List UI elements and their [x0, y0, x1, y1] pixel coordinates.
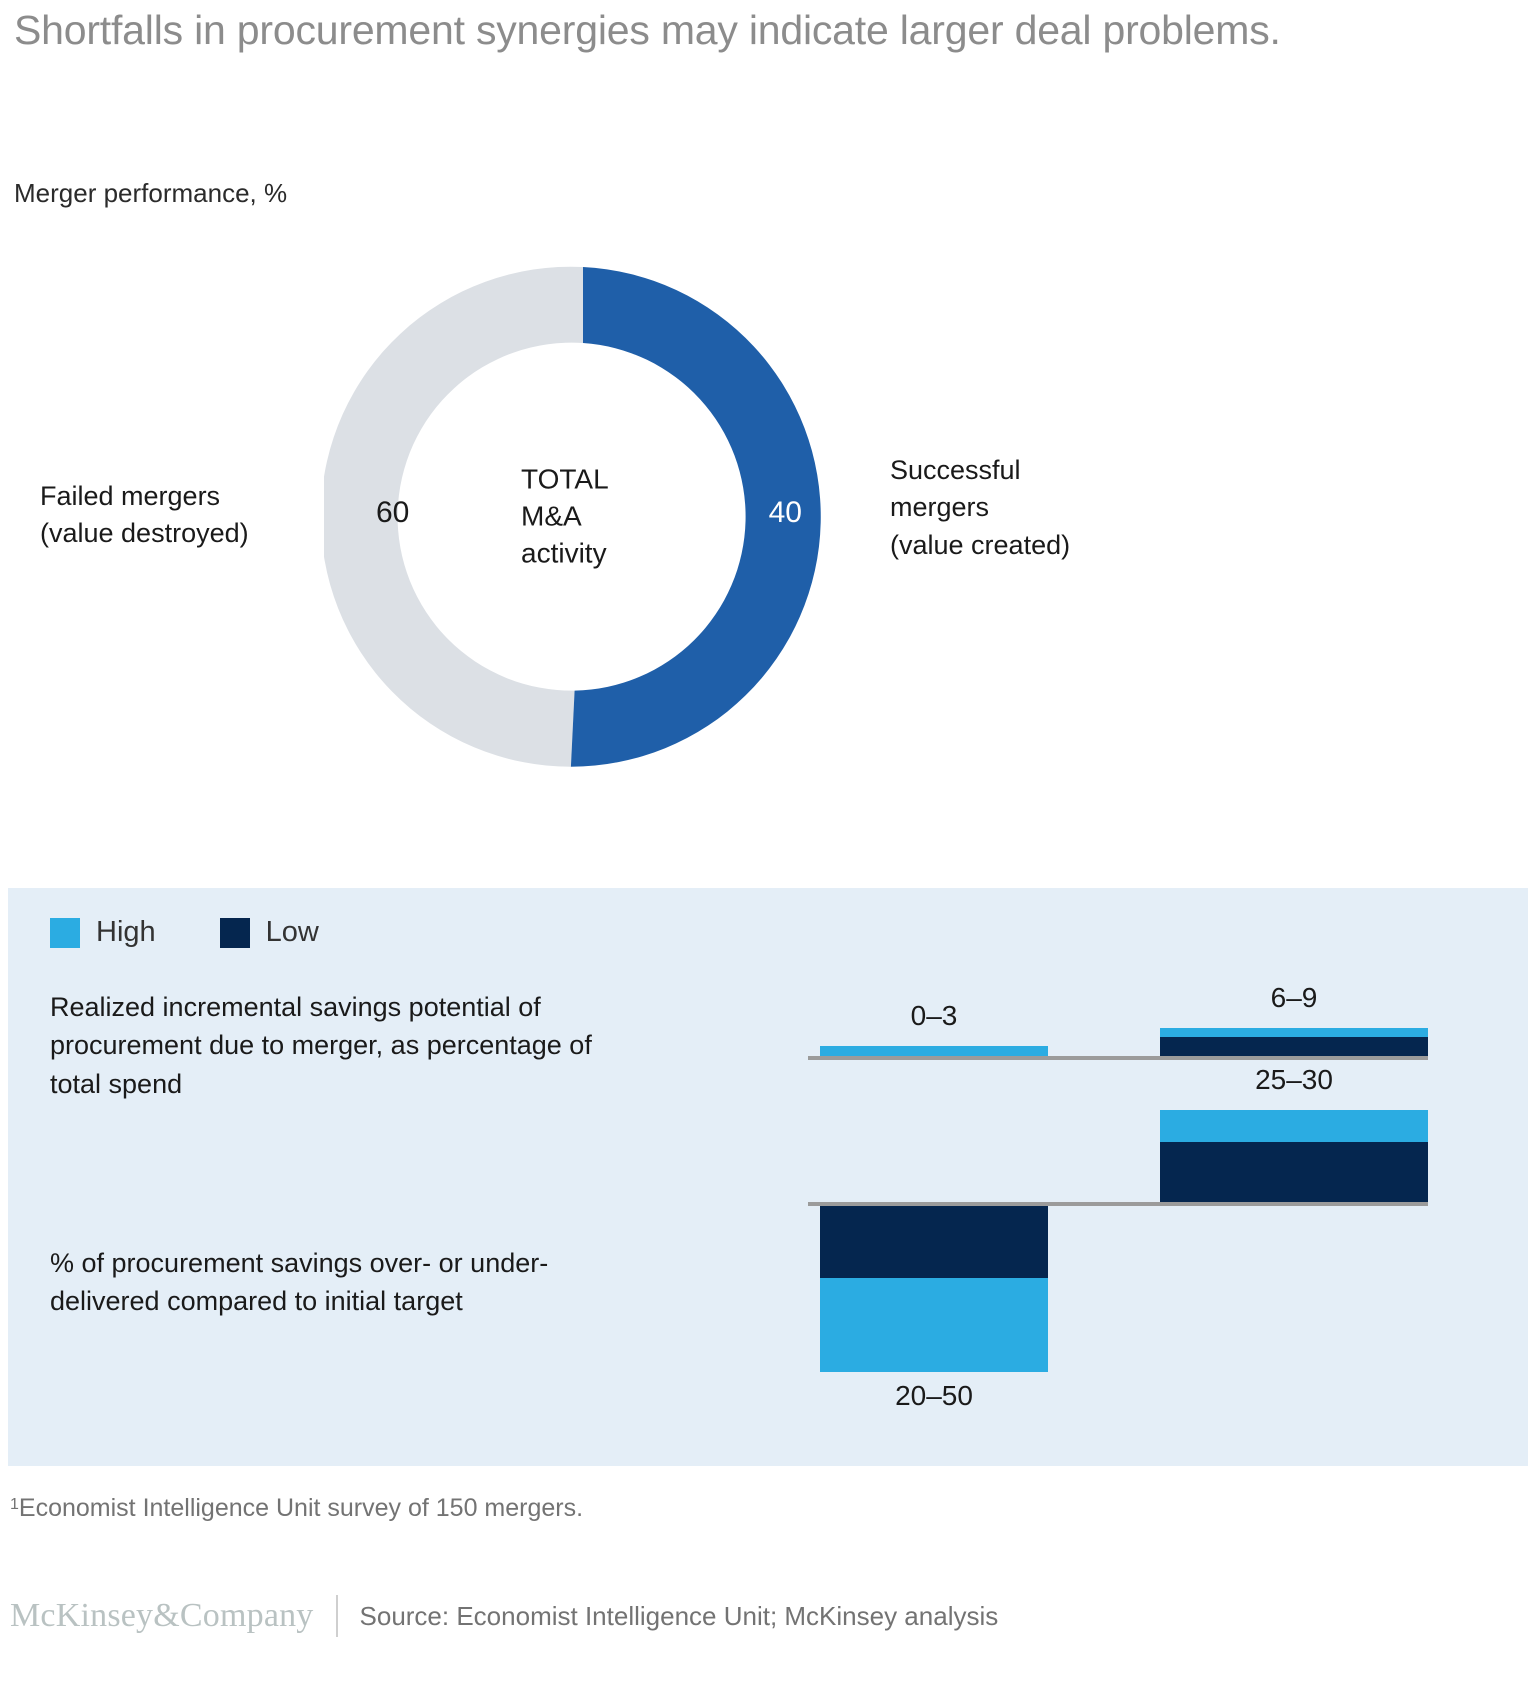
- donut-label-failed-line-2: (value destroyed): [40, 515, 340, 552]
- row-1-bar-right-low-segment: [1160, 1037, 1428, 1056]
- donut-label-successful-line-2: mergers: [890, 489, 1210, 526]
- infographic-page: Shortfalls in procurement synergies may …: [0, 0, 1536, 1690]
- donut-center-line-1: TOTAL: [521, 462, 683, 499]
- row-1-label-left: 0–3: [820, 1000, 1048, 1032]
- donut-center-line-3: activity: [521, 535, 683, 572]
- donut-label-successful: Successful mergers (value created): [890, 452, 1210, 564]
- donut-center-line-2: M&A: [521, 499, 683, 536]
- footnote-text: Economist Intelligence Unit survey of 15…: [19, 1494, 583, 1522]
- row-1-label-right: 6–9: [1160, 982, 1428, 1014]
- row-2-label-left: 20–50: [820, 1380, 1048, 1412]
- metric-row-savings-delivery: % of procurement savings over- or under-…: [8, 1084, 1528, 1466]
- donut-label-successful-line-1: Successful: [890, 452, 1210, 489]
- row-1-bar-left: [820, 1046, 1048, 1056]
- metric-row-1-line-2: procurement due to merger, as percentage…: [50, 1026, 770, 1064]
- row-1-baseline: [808, 1056, 1428, 1060]
- mckinsey-logo: McKinsey&Company: [10, 1597, 314, 1635]
- row-1-bar-right: [1160, 1028, 1428, 1056]
- row-1-bar-left-high-segment: [820, 1046, 1048, 1056]
- page-title: Shortfalls in procurement synergies may …: [14, 4, 1354, 57]
- source-divider: [336, 1595, 338, 1637]
- donut-value-successful: 40: [769, 496, 802, 530]
- donut-label-failed-line-1: Failed mergers: [40, 478, 340, 515]
- footnote: 1Economist Intelligence Unit survey of 1…: [10, 1494, 583, 1523]
- source-text: Source: Economist Intelligence Unit; McK…: [360, 1601, 999, 1632]
- row-2-bar-right-low-segment: [1160, 1142, 1428, 1202]
- source-bar: McKinsey&Company Source: Economist Intel…: [10, 1595, 998, 1637]
- metric-row-2-chart: 25–30 20–50: [808, 1084, 1428, 1466]
- metric-row-2-line-1: % of procurement savings over- or under-: [50, 1244, 770, 1282]
- row-2-bar-left-low-segment: [820, 1206, 1048, 1278]
- comparison-panel: High Low Realized incremental savings po…: [8, 888, 1528, 1466]
- row-2-label-right: 25–30: [1160, 1064, 1428, 1096]
- metric-row-1-line-1: Realized incremental savings potential o…: [50, 988, 770, 1026]
- donut-center-label: TOTAL M&A activity: [483, 462, 683, 573]
- row-2-bar-right-high-segment: [1160, 1110, 1428, 1142]
- metric-row-2-text: % of procurement savings over- or under-…: [50, 1244, 770, 1321]
- footnote-marker: 1: [10, 1496, 19, 1513]
- donut-chart: TOTAL M&A activity 60 40: [324, 258, 842, 776]
- donut-label-successful-line-3: (value created): [890, 527, 1210, 564]
- row-2-bar-left: [820, 1206, 1048, 1372]
- donut-label-failed: Failed mergers (value destroyed): [40, 478, 340, 553]
- row-2-bar-left-high-segment: [820, 1278, 1048, 1372]
- metric-row-2-line-2: delivered compared to initial target: [50, 1282, 770, 1320]
- donut-value-failed: 60: [376, 496, 409, 530]
- chart-subtitle: Merger performance, %: [14, 178, 287, 209]
- row-1-bar-right-high-segment: [1160, 1028, 1428, 1037]
- row-2-bar-right: [1160, 1110, 1428, 1202]
